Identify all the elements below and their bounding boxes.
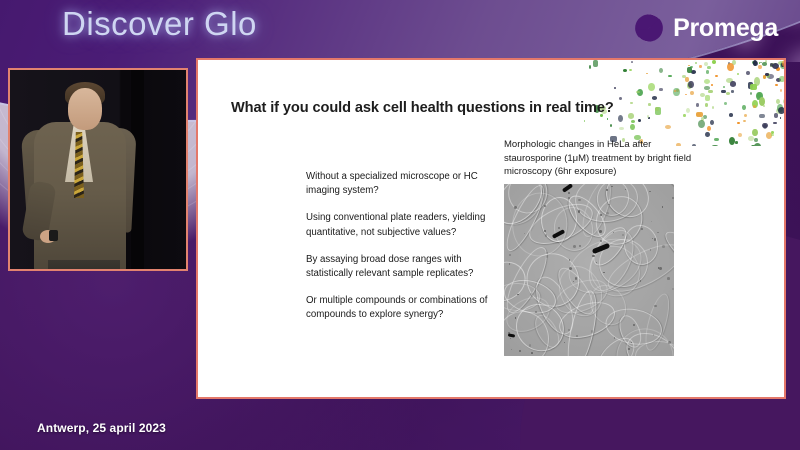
question-item: Without a specialized microscope or HC i…: [306, 170, 502, 198]
figure-caption: Morphologic changes in HeLa after stauro…: [504, 138, 694, 179]
slide-content-panel: What if you could ask cell health questi…: [196, 58, 786, 399]
speaker-video-panel[interactable]: [8, 68, 188, 271]
speaker-legs: [48, 260, 120, 271]
question-item: By assaying broad dose ranges with stati…: [306, 253, 502, 281]
promega-logo: Promega: [634, 13, 778, 43]
question-item: Or multiple compounds or combinations of…: [306, 294, 502, 322]
microscopy-image: [504, 184, 674, 356]
deck-title: Discover Glo: [62, 5, 257, 43]
speaker-clicker: [49, 230, 58, 241]
speaker-head: [68, 88, 102, 130]
footer-location-date: Antwerp, 25 april 2023: [37, 421, 166, 435]
question-item: Using conventional plate readers, yieldi…: [306, 211, 502, 239]
presentation-screen: Discover Glo Promega What if you could a…: [0, 0, 800, 450]
question-list: Without a specialized microscope or HC i…: [306, 170, 502, 323]
promega-swirl-icon: [634, 13, 664, 43]
promega-wordmark: Promega: [673, 14, 778, 43]
slide-title: What if you could ask cell health questi…: [231, 100, 701, 116]
